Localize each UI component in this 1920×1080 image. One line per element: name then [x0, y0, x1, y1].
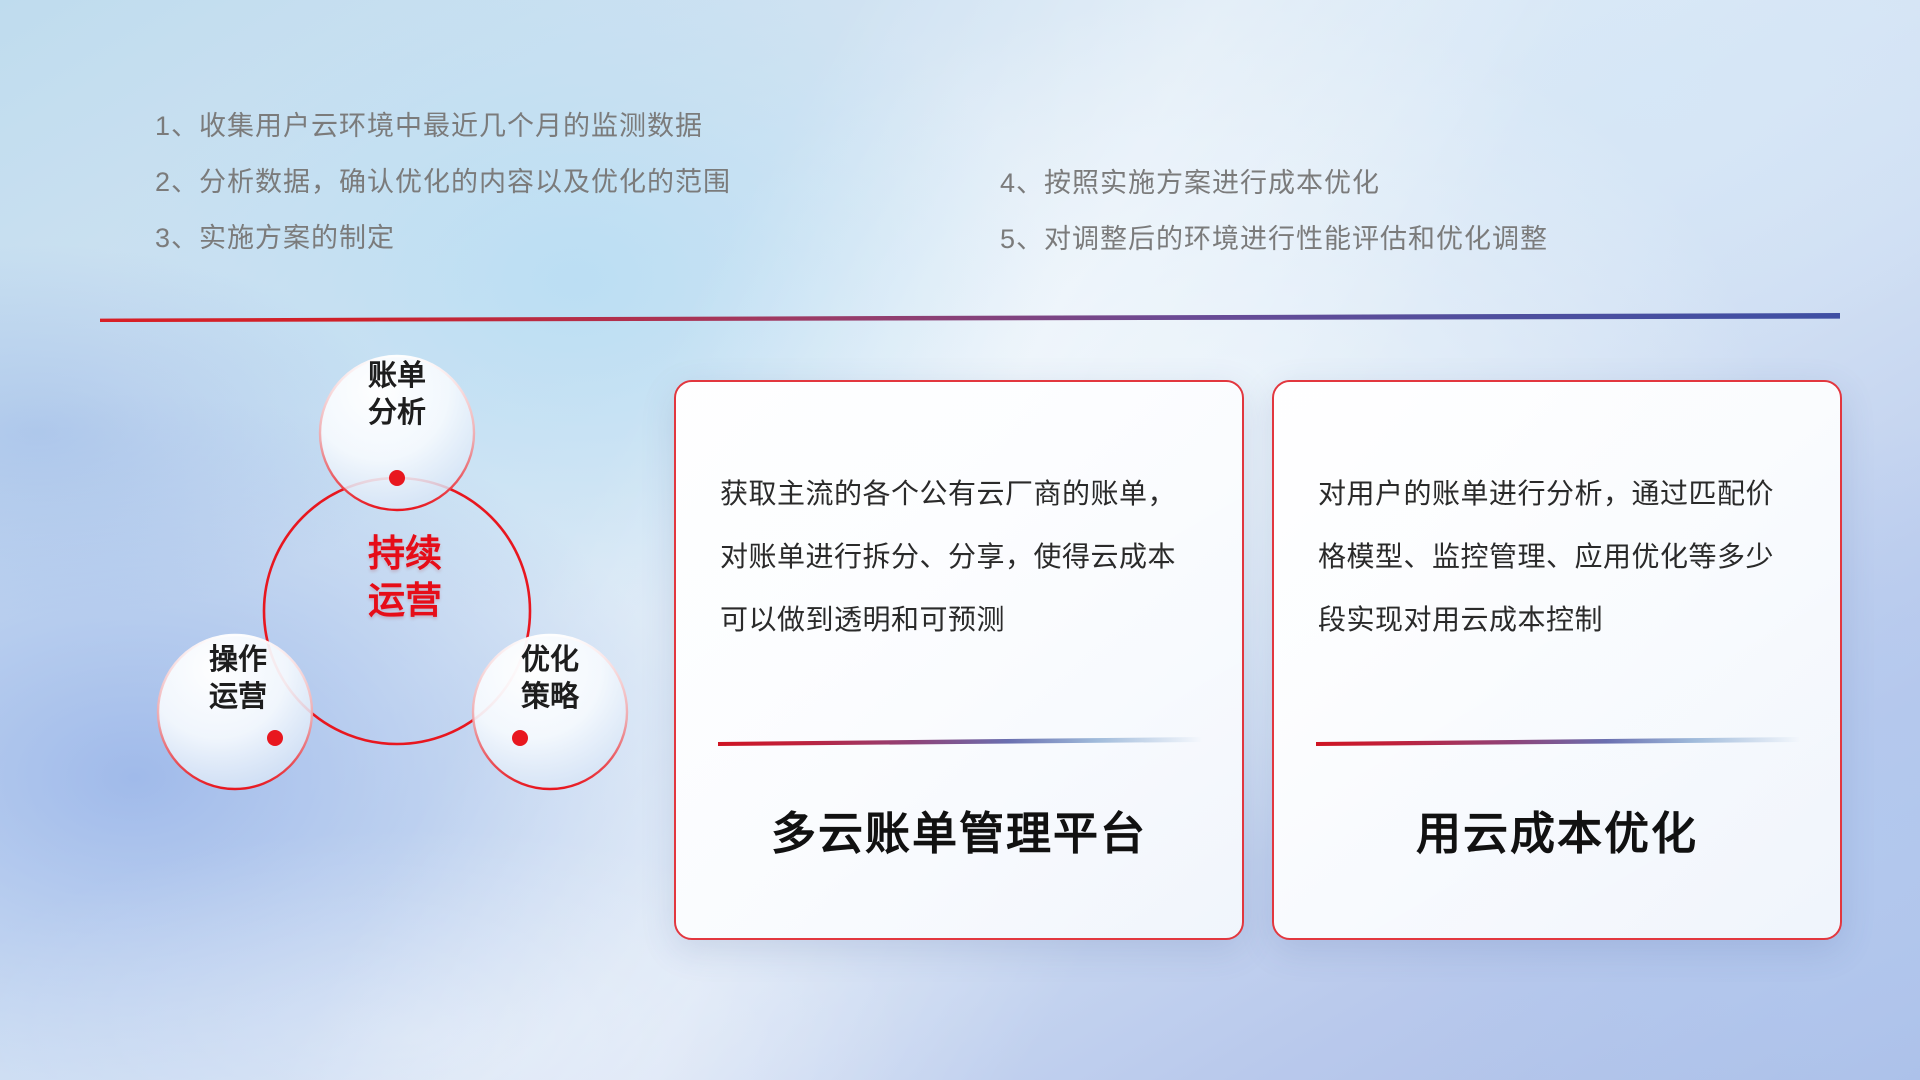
- card-title: 多云账单管理平台: [676, 797, 1242, 862]
- venn-node-top: [389, 470, 405, 486]
- card-body-text: 对用户的账单进行分析，通过匹配价格模型、监控管理、应用优化等多少段实现对用云成本…: [1318, 462, 1798, 651]
- card-accent-rule: [1316, 737, 1800, 746]
- card-cloud-cost-optimization[interactable]: 对用户的账单进行分析，通过匹配价格模型、监控管理、应用优化等多少段实现对用云成本…: [1272, 380, 1842, 940]
- venn-circle-operations: [158, 635, 312, 789]
- venn-circle-optimization: [473, 635, 627, 789]
- card-multi-cloud-billing-platform[interactable]: 获取主流的各个公有云厂商的账单，对账单进行拆分、分享，使得云成本可以做到透明和可…: [674, 380, 1244, 940]
- section-divider: [100, 313, 1840, 322]
- step-item-4: 4、按照实施方案进行成本优化: [1000, 155, 1548, 211]
- venn-diagram: 账单 分析 持续 运营 操作 运营 优化 策略: [90, 330, 630, 960]
- card-title: 用云成本优化: [1274, 797, 1840, 862]
- card-body-text: 获取主流的各个公有云厂商的账单，对账单进行拆分、分享，使得云成本可以做到透明和可…: [720, 462, 1200, 651]
- steps-list-left: 1、收集用户云环境中最近几个月的监测数据 2、分析数据，确认优化的内容以及优化的…: [155, 98, 731, 266]
- step-item-3: 3、实施方案的制定: [155, 210, 731, 266]
- steps-list-right: 4、按照实施方案进行成本优化 5、对调整后的环境进行性能评估和优化调整: [1000, 155, 1548, 267]
- card-accent-rule: [718, 737, 1202, 746]
- step-item-1: 1、收集用户云环境中最近几个月的监测数据: [155, 98, 731, 154]
- venn-circle-bill: [320, 356, 474, 510]
- venn-node-left: [267, 730, 283, 746]
- venn-node-right: [512, 730, 528, 746]
- step-item-5: 5、对调整后的环境进行性能评估和优化调整: [1000, 211, 1548, 267]
- slide-canvas: 1、收集用户云环境中最近几个月的监测数据 2、分析数据，确认优化的内容以及优化的…: [0, 0, 1920, 1080]
- step-item-2: 2、分析数据，确认优化的内容以及优化的范围: [155, 154, 731, 210]
